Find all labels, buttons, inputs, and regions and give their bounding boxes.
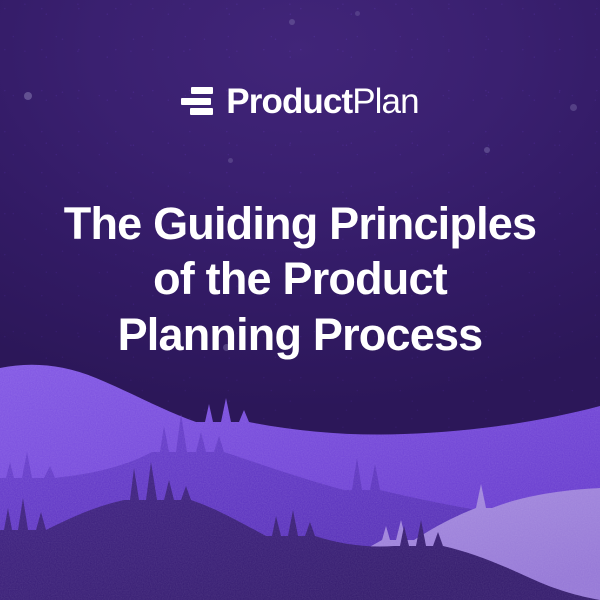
star-dot bbox=[289, 19, 295, 25]
wordmark-product: Product bbox=[226, 82, 352, 121]
star-dot bbox=[228, 158, 233, 163]
productplan-logo: ProductPlan bbox=[0, 82, 600, 120]
logo-bar-middle bbox=[181, 98, 211, 105]
star-dot bbox=[355, 11, 360, 16]
productplan-bars-logo-icon bbox=[181, 86, 215, 116]
productplan-title-card: ProductPlan The Guiding Principles of th… bbox=[0, 0, 600, 600]
page-title-line-1: The Guiding Principles bbox=[28, 196, 572, 251]
wordmark-plan: Plan bbox=[352, 82, 418, 121]
productplan-wordmark: ProductPlan bbox=[226, 84, 418, 119]
star-dot bbox=[484, 147, 490, 153]
logo-bar-top bbox=[191, 87, 213, 94]
night-mountain-landscape bbox=[0, 340, 600, 600]
page-title: The Guiding Principles of the Product Pl… bbox=[0, 196, 600, 362]
logo-bar-bottom bbox=[190, 108, 213, 115]
page-title-line-2: of the Product bbox=[28, 251, 572, 306]
